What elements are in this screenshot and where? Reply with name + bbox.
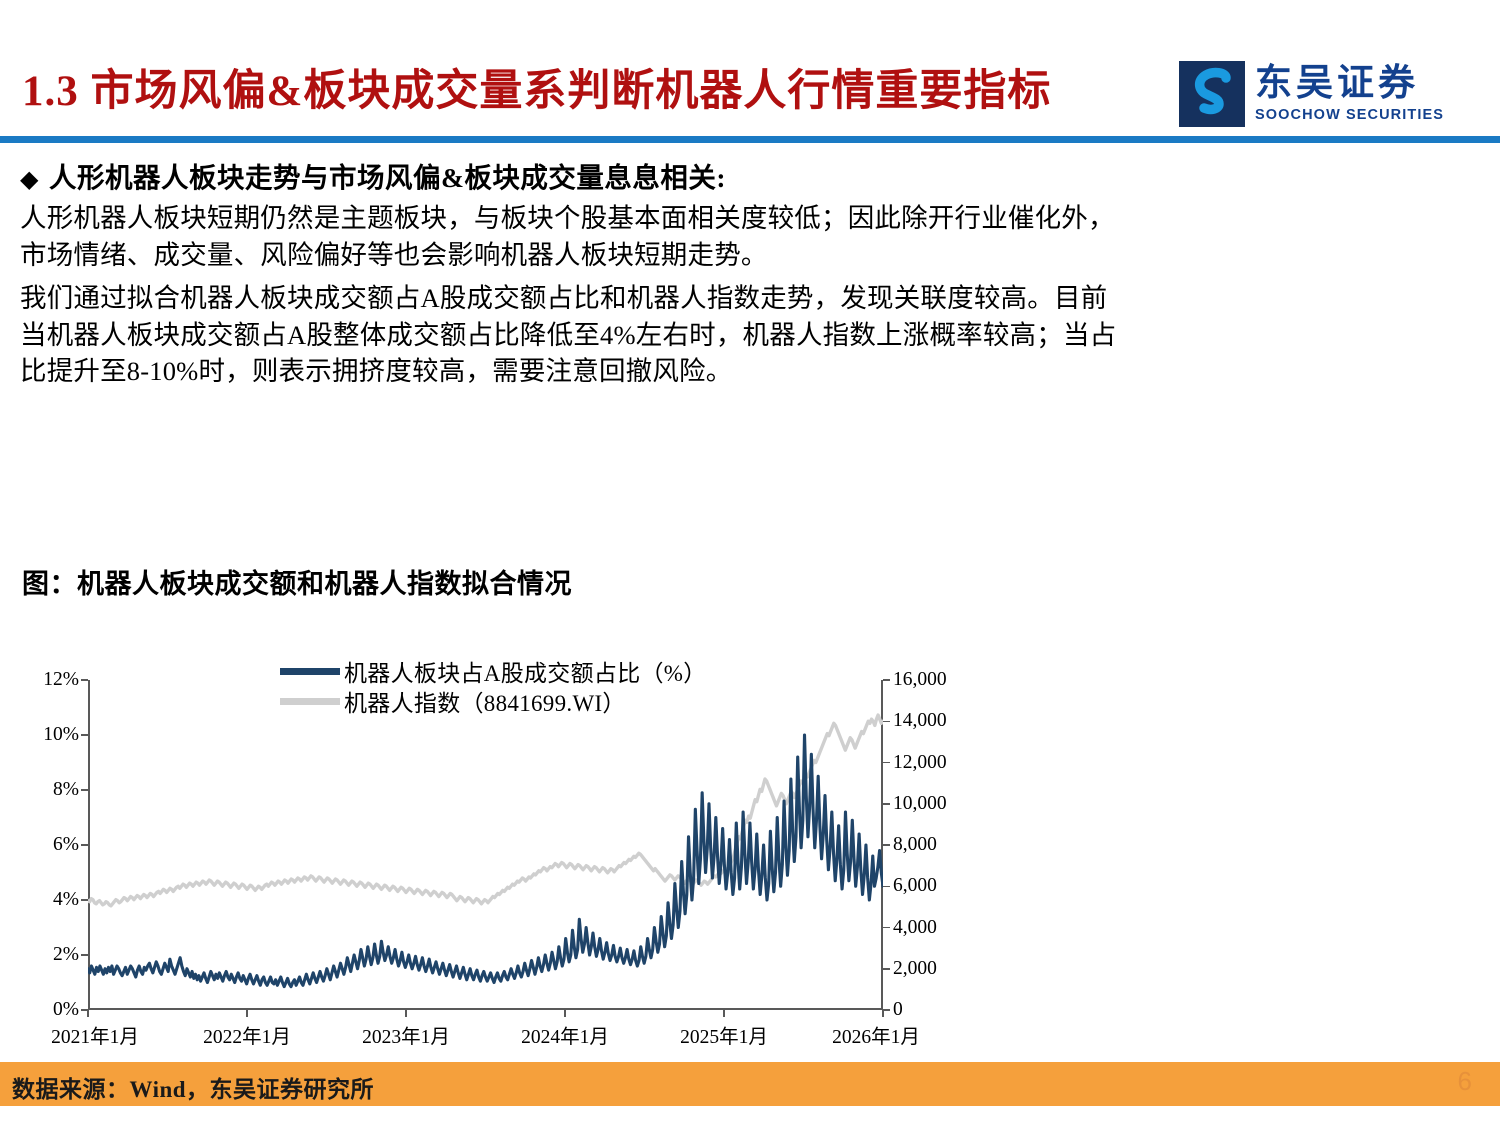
y-left-tick-label: 0% (53, 999, 79, 1021)
x-axis-tick (723, 1010, 725, 1017)
x-axis-tick-label: 2022年1月 (203, 1020, 291, 1049)
soochow-logo-mark (1179, 61, 1245, 127)
y-right-tick (883, 927, 890, 929)
y-right-tick (883, 721, 890, 723)
y-right-tick (883, 1009, 890, 1011)
y-left-tick-label: 2% (53, 944, 79, 966)
y-right-tick-label: 2,000 (893, 958, 937, 980)
paragraph-two-line-2: 当机器人板块成交额占A股整体成交额占比降低至4%左右时，机器人指数上涨概率较高；… (20, 317, 1480, 354)
data-source-label: 数据来源：Wind，东吴证券研究所 (12, 1070, 374, 1104)
y-right-tick (883, 844, 890, 846)
y-right-tick (883, 886, 890, 888)
y-right-tick (883, 679, 890, 681)
y-right-tick-label: 0 (893, 999, 903, 1021)
legend-swatch-share (280, 668, 340, 675)
company-logo: 东吴证券 SOOCHOW SECURITIES (1179, 58, 1444, 130)
x-axis-tick-label: 2024年1月 (521, 1020, 609, 1049)
x-axis-tick (882, 1010, 884, 1017)
x-axis-tick (87, 1010, 89, 1017)
y-right-tick (883, 803, 890, 805)
footer-bottom-strip (0, 1106, 1500, 1125)
x-axis-tick (246, 1010, 248, 1017)
y-right-tick-label: 4,000 (893, 917, 937, 939)
y-left-tick (81, 734, 88, 736)
figure-caption: 图：机器人板块成交额和机器人指数拟合情况 (22, 562, 572, 601)
y-left-tick (81, 899, 88, 901)
y-right-tick-label: 10,000 (893, 793, 947, 815)
y-right-tick-label: 12,000 (893, 752, 947, 774)
y-left-tick-label: 4% (53, 889, 79, 911)
y-left-tick-label: 10% (43, 724, 79, 746)
paragraph-two: 我们通过拟合机器人板块成交额占A股成交额占比和机器人指数走势，发现关联度较高。目… (20, 280, 1480, 390)
chart-series-layer (88, 680, 883, 1010)
x-axis-tick-label: 2026年1月 (832, 1020, 920, 1049)
y-left-tick (81, 679, 88, 681)
paragraph-two-line-1-rest: 目前 (1054, 283, 1107, 313)
series-line-turnover-share (88, 735, 883, 987)
logo-wordmark: 东吴证券 SOOCHOW SECURITIES (1255, 65, 1444, 123)
page-title: 1.3 市场风偏&板块成交量系判断机器人行情重要指标 (22, 56, 1051, 118)
y-right-tick (883, 762, 890, 764)
x-axis-tick-label: 2023年1月 (362, 1020, 450, 1049)
paragraph-two-line-3: 比提升至8-10%时，则表示拥挤度较高，需要注意回撤风险。 (20, 353, 1480, 390)
y-left-tick (81, 954, 88, 956)
logo-cn-text: 东吴证券 (1255, 65, 1444, 102)
y-left-tick-label: 6% (53, 834, 79, 856)
chart-plot-area: 0%2%4%6%8%10%12% 02,0004,0006,0008,00010… (88, 680, 883, 1010)
chart-container: 机器人板块占A股成交额占比（%） 机器人指数（8841699.WI） 0%2%4… (0, 648, 960, 1048)
logo-en-text: SOOCHOW SECURITIES (1255, 108, 1444, 123)
y-right-tick-label: 16,000 (893, 669, 947, 691)
paragraph-one-line-2: 市场情绪、成交量、风险偏好等也会影响机器人板块短期走势。 (20, 237, 1480, 274)
x-axis-tick (564, 1010, 566, 1017)
x-axis-tick-label: 2025年1月 (680, 1020, 768, 1049)
bullet-heading: ◆人形机器人板块走势与市场风偏&板块成交量息息相关: (20, 160, 1420, 196)
y-right-tick-label: 6,000 (893, 875, 937, 897)
header-divider (0, 136, 1500, 143)
y-left-tick (81, 789, 88, 791)
page-number: 6 (1458, 1066, 1472, 1097)
y-right-tick-label: 14,000 (893, 710, 947, 732)
x-axis-tick (405, 1010, 407, 1017)
paragraph-one-line-1: 人形机器人板块短期仍然是主题板块，与板块个股基本面相关度较低；因此除开行业催化外… (20, 200, 1480, 237)
paragraph-two-line-1: 我们通过拟合机器人板块成交额占A股成交额占比和机器人指数走势，发现关联度较高。目… (20, 280, 1480, 317)
paragraph-one: 人形机器人板块短期仍然是主题板块，与板块个股基本面相关度较低；因此除开行业催化外… (20, 200, 1480, 273)
y-left-tick-label: 12% (43, 669, 79, 691)
bullet-heading-text: 人形机器人板块走势与市场风偏&板块成交量息息相关: (49, 162, 726, 193)
paragraph-two-line-1-bold: 我们通过拟合机器人板块成交额占A股成交额占比和机器人指数走势，发现关联度较高。 (20, 283, 1054, 313)
x-axis-tick-label: 2021年1月 (51, 1020, 139, 1049)
y-right-tick-label: 8,000 (893, 834, 937, 856)
page-header: 1.3 市场风偏&板块成交量系判断机器人行情重要指标 东吴证券 SOOCHOW … (0, 0, 1500, 140)
y-left-tick-label: 8% (53, 779, 79, 801)
y-left-tick (81, 844, 88, 846)
diamond-bullet-icon: ◆ (20, 167, 39, 193)
bullet-heading-row: ◆人形机器人板块走势与市场风偏&板块成交量息息相关: (20, 160, 1420, 196)
y-right-tick (883, 968, 890, 970)
